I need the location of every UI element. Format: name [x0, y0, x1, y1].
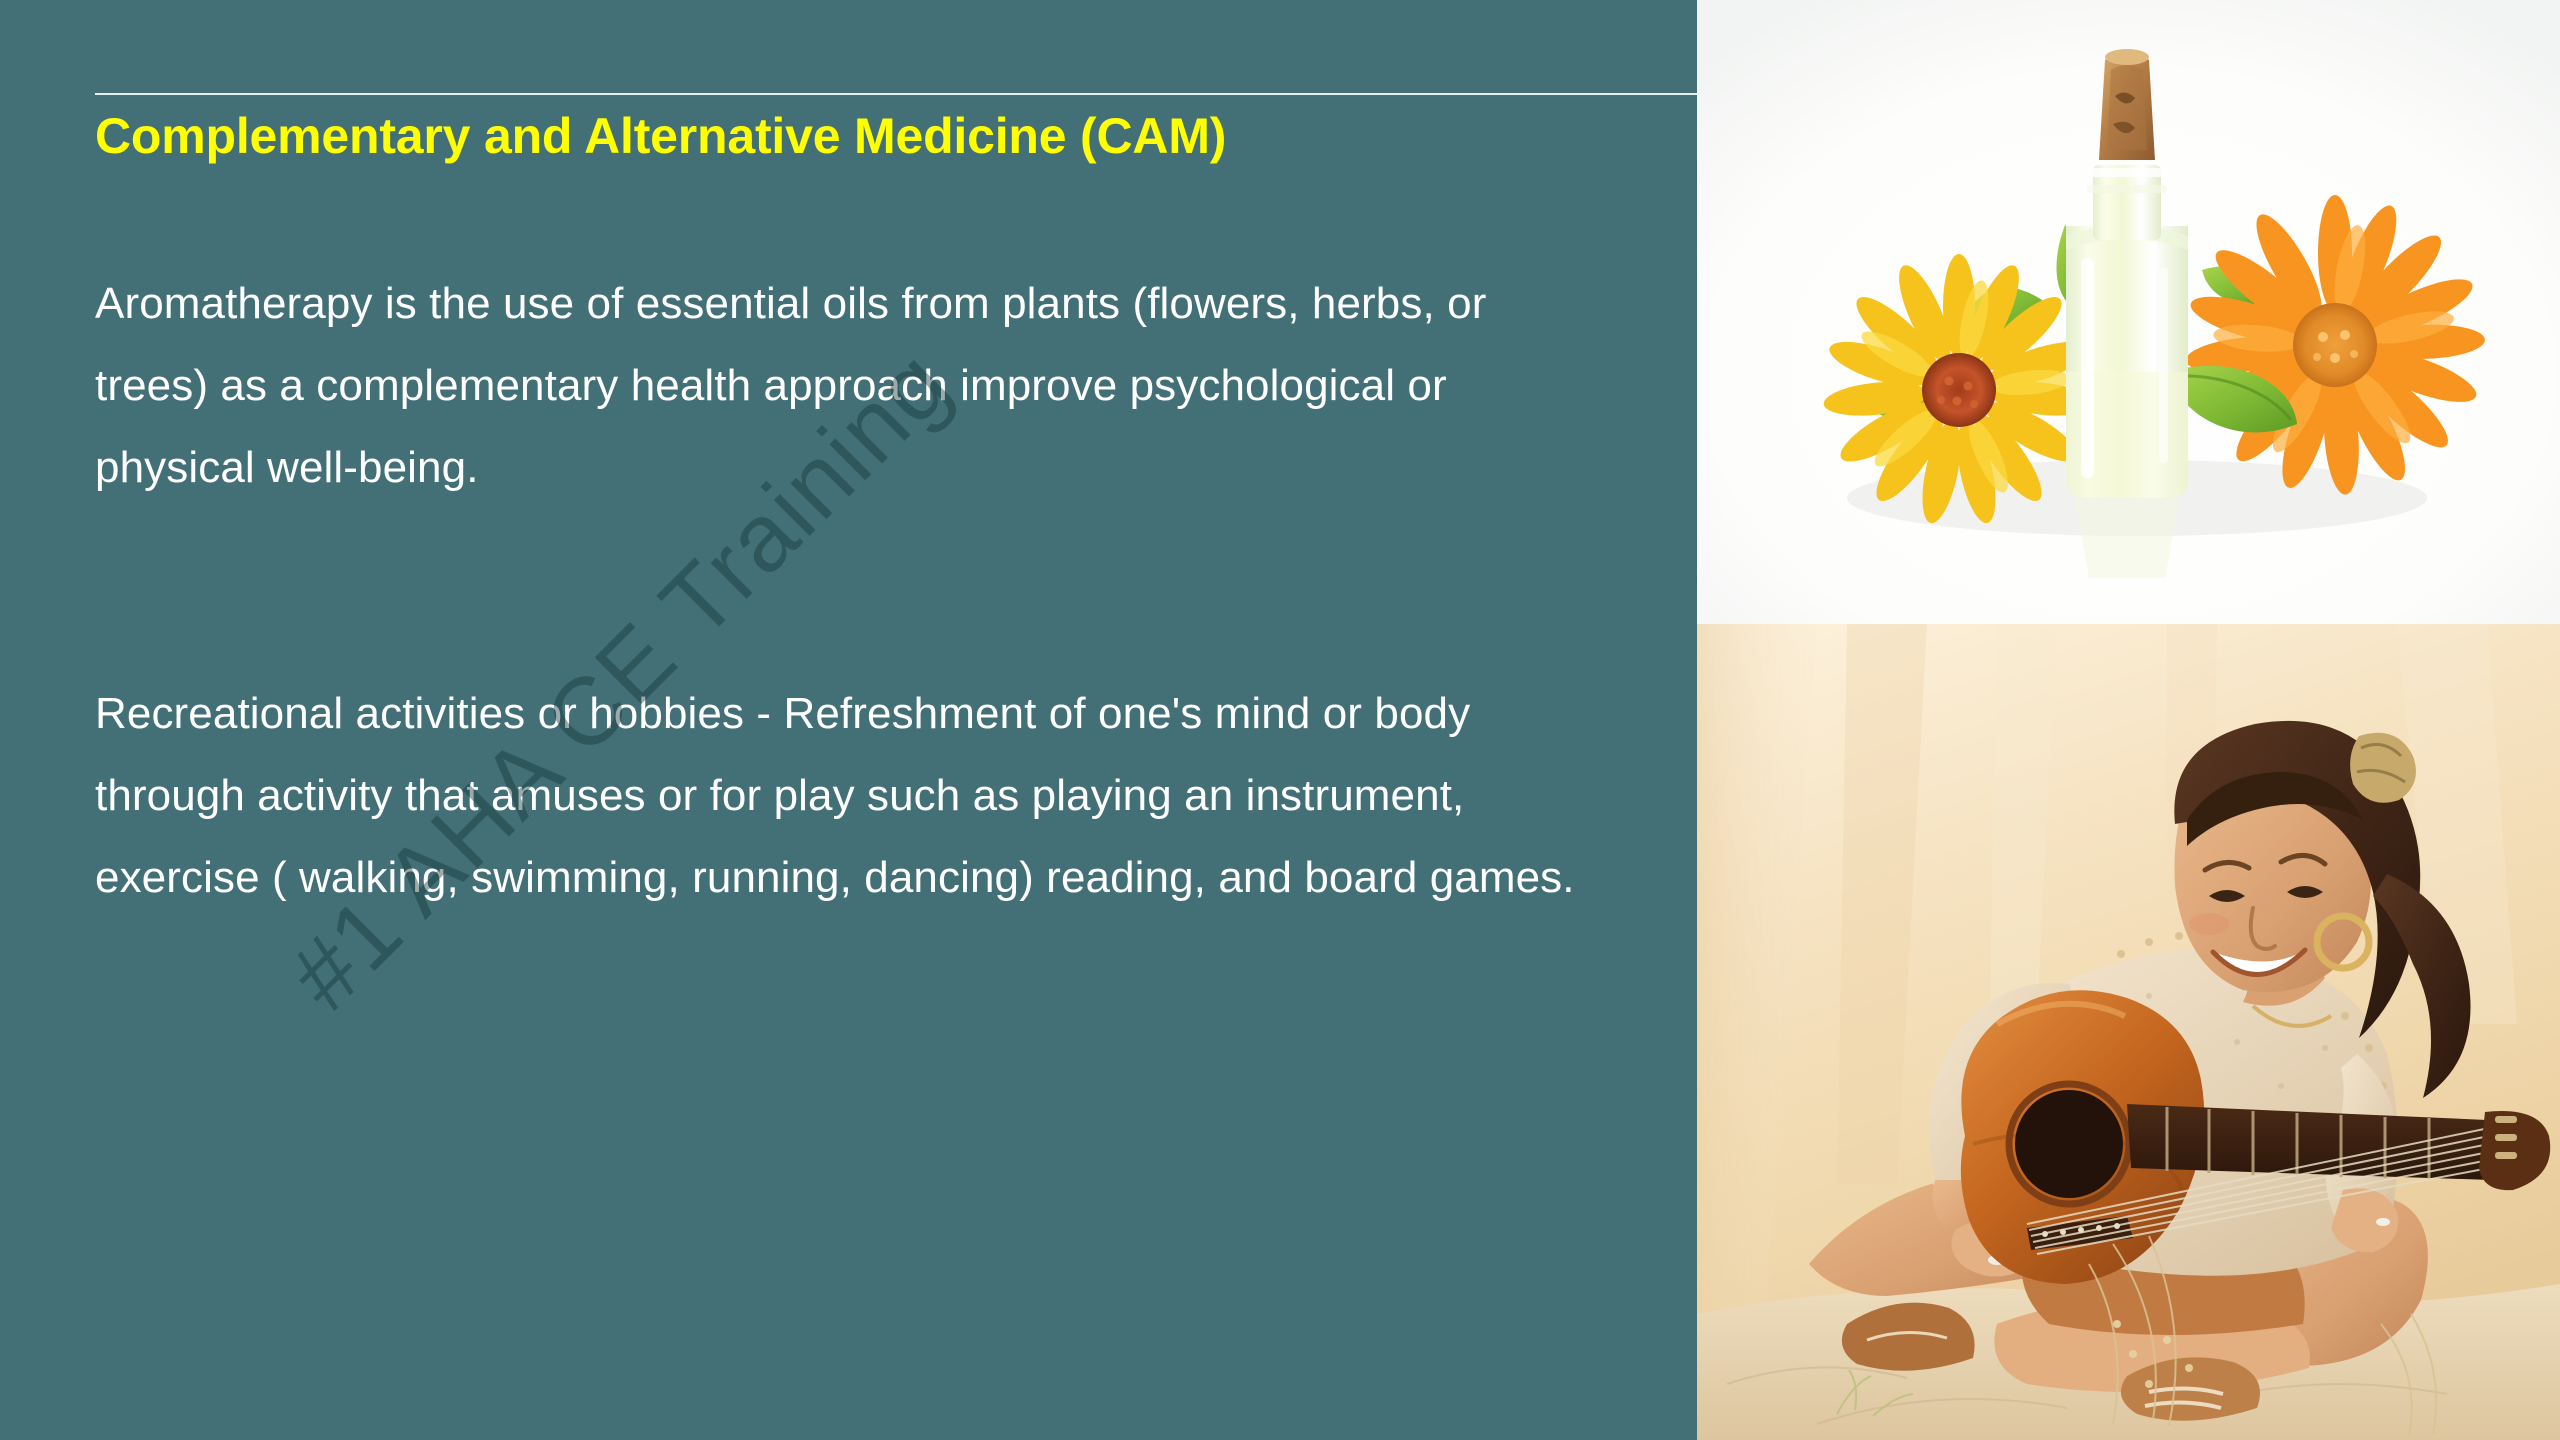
paragraph-recreational-activities: Recreational activities or hobbies - Ref… [95, 673, 1575, 919]
title-divider-rule [95, 93, 1697, 95]
slide: Complementary and Alternative Medicine (… [0, 0, 2560, 1440]
woman-playing-guitar-image [1697, 624, 2560, 1440]
content-panel: Complementary and Alternative Medicine (… [0, 0, 1697, 1440]
page-title: Complementary and Alternative Medicine (… [95, 105, 1615, 168]
image-column [1697, 0, 2560, 1440]
paragraph-aromatherapy: Aromatherapy is the use of essential oil… [95, 263, 1575, 509]
essential-oil-bottle-image [1697, 0, 2560, 624]
